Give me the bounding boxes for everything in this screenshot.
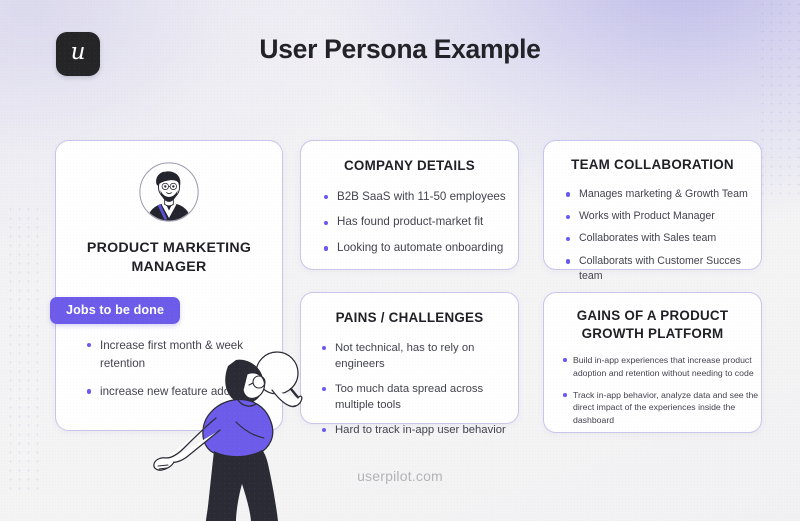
- jobs-to-be-done-badge[interactable]: Jobs to be done: [50, 297, 180, 324]
- list-item: Collaborats with Customer Succes team: [565, 254, 761, 284]
- poster-canvas: u User Persona Example: [0, 0, 800, 521]
- list-item: Manages marketing & Growth Team: [565, 187, 761, 202]
- persona-jobs-list: Increase first month & week retention in…: [86, 337, 266, 412]
- list-item: Hard to track in-app user behavior: [321, 422, 518, 438]
- team-collaboration-list: Manages marketing & Growth Team Works wi…: [565, 187, 761, 284]
- list-item: Increase first month & week retention: [86, 337, 266, 372]
- company-details-list: B2B SaaS with 11-50 employees Has found …: [323, 189, 518, 257]
- footer-site: userpilot.com: [0, 468, 800, 484]
- team-collaboration-card: TEAM COLLABORATION Manages marketing & G…: [543, 140, 762, 270]
- list-item: Track in-app behavior, analyze data and …: [562, 389, 761, 426]
- list-item: B2B SaaS with 11-50 employees: [323, 189, 518, 206]
- list-item: Too much data spread across multiple too…: [321, 381, 518, 413]
- persona-role: PRODUCT MARKETING MANAGER: [70, 239, 268, 278]
- gains-card: GAINS OF A PRODUCT GROWTH PLATFORM Build…: [543, 292, 762, 433]
- pains-challenges-list: Not technical, has to rely on engineers …: [321, 340, 518, 438]
- company-details-card: COMPANY DETAILS B2B SaaS with 11-50 empl…: [300, 140, 519, 270]
- persona-avatar-icon: [138, 161, 200, 223]
- list-item: increase new feature adoption: [86, 383, 266, 401]
- card-title: PAINS / CHALLENGES: [301, 309, 518, 327]
- list-item: Looking to automate onboarding: [323, 240, 518, 257]
- list-item: Not technical, has to rely on engineers: [321, 340, 518, 372]
- page-title: User Persona Example: [0, 34, 800, 65]
- list-item: Has found product-market fit: [323, 214, 518, 231]
- gains-list: Build in-app experiences that increase p…: [562, 354, 761, 426]
- list-item: Collaborates with Sales team: [565, 231, 761, 246]
- pains-challenges-card: PAINS / CHALLENGES Not technical, has to…: [300, 292, 519, 424]
- list-item: Build in-app experiences that increase p…: [562, 354, 761, 379]
- card-title: COMPANY DETAILS: [301, 157, 518, 175]
- list-item: Works with Product Manager: [565, 209, 761, 224]
- persona-card: PRODUCT MARKETING MANAGER Jobs to be don…: [55, 140, 283, 431]
- card-title: TEAM COLLABORATION: [544, 156, 761, 174]
- card-title: GAINS OF A PRODUCT GROWTH PLATFORM: [544, 307, 761, 342]
- dot-pattern-left: [6, 205, 40, 495]
- header: u User Persona Example: [0, 0, 800, 110]
